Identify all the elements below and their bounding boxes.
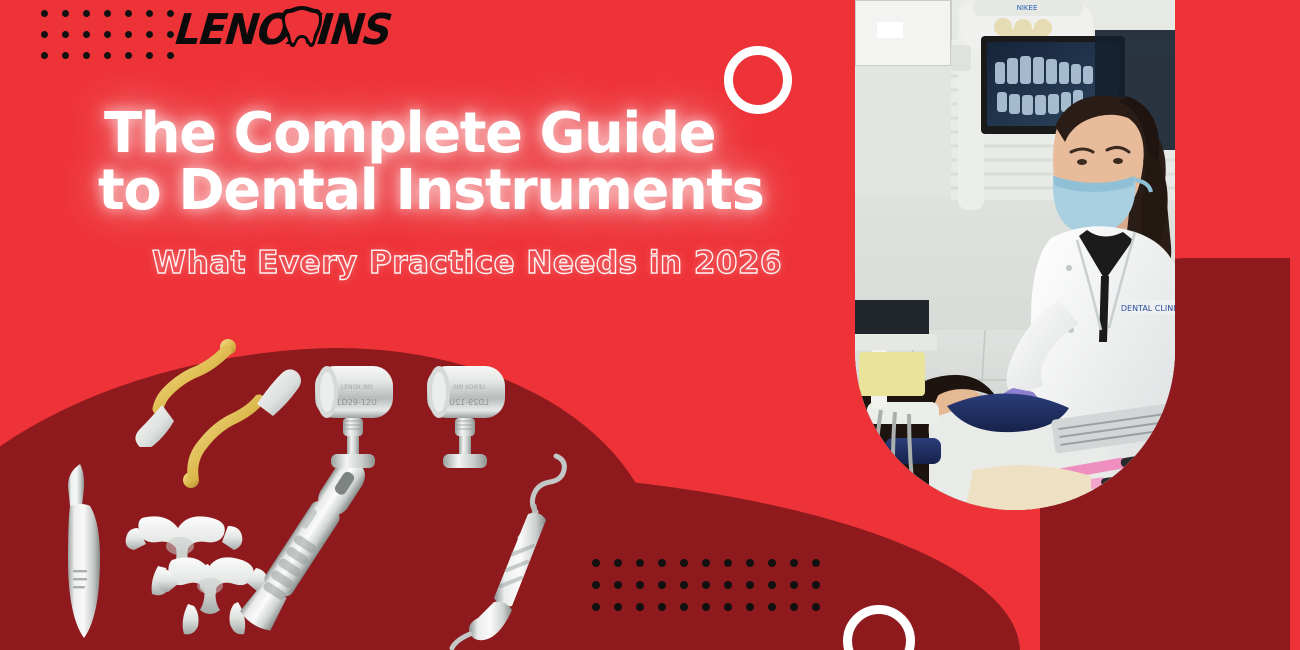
- dot: [746, 603, 754, 611]
- dot: [41, 52, 48, 59]
- brand-name-part-2: INS: [316, 9, 393, 51]
- root-elevator-icon: [52, 462, 110, 640]
- instrument-root-elevator: [52, 462, 110, 640]
- dot: [41, 31, 48, 38]
- dot: [83, 31, 90, 38]
- dot: [680, 603, 688, 611]
- dot: [636, 559, 644, 567]
- dot: [724, 559, 732, 567]
- dot: [768, 581, 776, 589]
- bur-block-2-icon: LENOX INS LD29-12U: [425, 362, 507, 470]
- svg-text:LD29-12U: LD29-12U: [337, 398, 377, 407]
- dot: [636, 581, 644, 589]
- dot: [592, 581, 600, 589]
- instrument-bur-block-1: LENOX INS LD29-12U: [313, 362, 395, 470]
- svg-text:LENOX INS: LENOX INS: [341, 384, 373, 391]
- dot: [658, 581, 666, 589]
- dot: [62, 52, 69, 59]
- mouth-mirror-handle-icon: [228, 448, 396, 648]
- right-edge-strip: [1290, 0, 1300, 650]
- dentist-photo: NIKEE: [855, 0, 1175, 510]
- dot-grid-top-left: [41, 10, 174, 59]
- dot: [658, 559, 666, 567]
- hero-banner: LENOX INS The Complete Guide to Dental I…: [0, 0, 1300, 650]
- dot: [702, 559, 710, 567]
- dot: [724, 603, 732, 611]
- dot: [768, 559, 776, 567]
- dot: [125, 52, 132, 59]
- dot: [146, 31, 153, 38]
- dot: [146, 52, 153, 59]
- dot: [812, 559, 820, 567]
- dot: [104, 52, 111, 59]
- bur-block-1-icon: LENOX INS LD29-12U: [313, 362, 395, 470]
- dot: [702, 581, 710, 589]
- dentist-photo-illustration: NIKEE: [855, 0, 1175, 510]
- page-title: The Complete Guide to Dental Instruments: [104, 105, 864, 219]
- double-end-explorer-icon: [440, 452, 572, 650]
- brand-logo[interactable]: LENOX INS: [176, 7, 391, 53]
- dot: [167, 31, 174, 38]
- dot: [62, 10, 69, 17]
- dot: [592, 559, 600, 567]
- circle-outline-icon-top: [724, 46, 792, 114]
- dot: [125, 10, 132, 17]
- dot: [680, 559, 688, 567]
- svg-text:NIKEE: NIKEE: [1017, 4, 1038, 12]
- dot: [702, 603, 710, 611]
- dot: [104, 10, 111, 17]
- dot: [768, 603, 776, 611]
- dot: [790, 581, 798, 589]
- dot: [746, 559, 754, 567]
- dot: [614, 559, 622, 567]
- page-title-line-2: to Dental Instruments: [98, 162, 864, 219]
- dot-grid-bottom-center: [592, 559, 820, 611]
- dot: [41, 10, 48, 17]
- svg-text:LD29-12U: LD29-12U: [449, 398, 489, 407]
- tooth-icon: [280, 3, 324, 49]
- dot: [812, 603, 820, 611]
- instrument-double-end-explorer: [440, 452, 572, 650]
- dot: [167, 10, 174, 17]
- dot: [680, 581, 688, 589]
- instrument-bur-block-2: LENOX INS LD29-12U: [425, 362, 507, 470]
- dot: [790, 603, 798, 611]
- dot: [724, 581, 732, 589]
- dot: [658, 603, 666, 611]
- dot: [790, 559, 798, 567]
- dot: [746, 581, 754, 589]
- dot: [614, 603, 622, 611]
- page-title-line-1: The Complete Guide: [104, 105, 864, 162]
- dot: [636, 603, 644, 611]
- instrument-mirror-handle: [228, 448, 396, 648]
- dot: [125, 31, 132, 38]
- page-subtitle: What Every Practice Needs in 2026: [152, 245, 782, 281]
- dot: [592, 603, 600, 611]
- dot: [614, 581, 622, 589]
- svg-text:DENTAL CLINIC: DENTAL CLINIC: [1121, 304, 1175, 313]
- dot: [812, 581, 820, 589]
- dot: [146, 10, 153, 17]
- svg-text:LENOX INS: LENOX INS: [453, 384, 485, 391]
- dot: [62, 31, 69, 38]
- dot: [83, 10, 90, 17]
- dot: [104, 31, 111, 38]
- dot: [83, 52, 90, 59]
